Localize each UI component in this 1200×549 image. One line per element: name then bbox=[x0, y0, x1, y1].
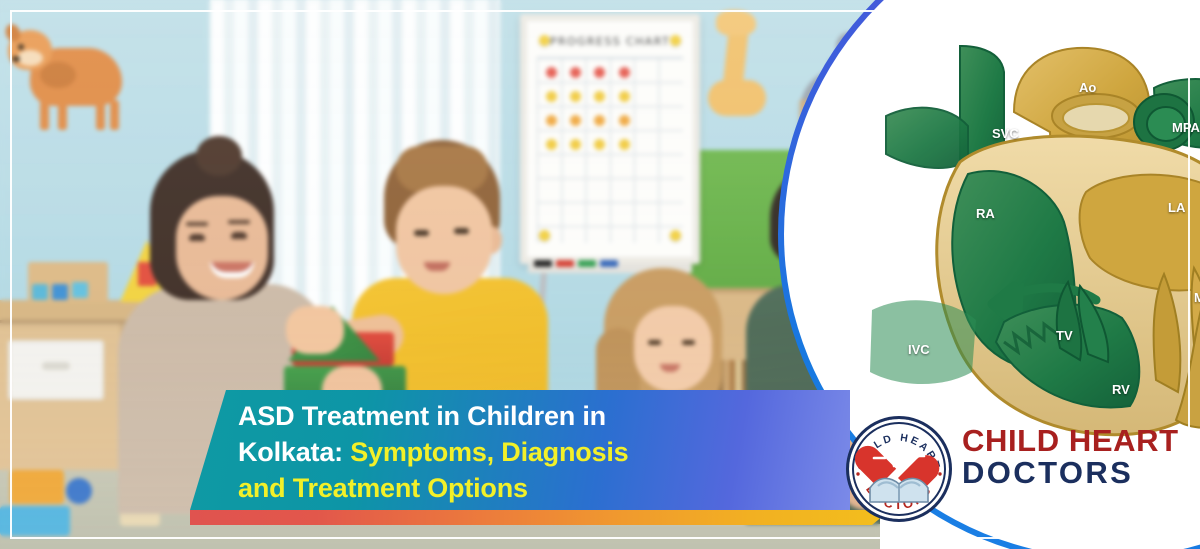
heart-label-ao: Ao bbox=[1079, 80, 1096, 95]
progress-sticker bbox=[570, 115, 581, 126]
title-line-1: ASD Treatment in Children in bbox=[238, 398, 840, 434]
progress-sticker bbox=[546, 139, 557, 150]
hands-icon bbox=[868, 470, 930, 504]
ecg-line-icon bbox=[872, 434, 926, 474]
progress-sticker bbox=[619, 67, 630, 78]
wordmark-line-2: DOCTORS bbox=[962, 456, 1179, 489]
title-line-2: Kolkata: Symptoms, Diagnosis bbox=[238, 434, 840, 470]
progress-sticker bbox=[594, 139, 605, 150]
progress-sticker bbox=[619, 115, 630, 126]
heart-diagram: AoSVCMPARALAMVTVIVCRVLV bbox=[864, 42, 1200, 442]
heart-label-svc: SVC bbox=[992, 126, 1019, 141]
heart-label-la: LA bbox=[1168, 200, 1185, 215]
marker bbox=[578, 260, 596, 267]
boy-hand bbox=[286, 306, 344, 354]
deer-nose-decal bbox=[12, 56, 20, 62]
brand-wordmark: CHILD HEART DOCTORS bbox=[962, 424, 1179, 489]
storage-bin bbox=[8, 340, 104, 400]
heart-label-rv: RV bbox=[1112, 382, 1130, 397]
promo-banner: PROGRESS CHART bbox=[0, 0, 1200, 549]
progress-sticker bbox=[619, 139, 630, 150]
brand-logo-badge[interactable]: CHILD HEART DOCTORS bbox=[846, 416, 952, 522]
progress-sticker bbox=[570, 139, 581, 150]
progress-sticker bbox=[546, 67, 557, 78]
floor-toy bbox=[10, 470, 64, 504]
title-line-2-plain: Kolkata: bbox=[238, 437, 350, 467]
magnet-pin bbox=[670, 230, 681, 241]
progress-sticker bbox=[546, 91, 557, 102]
progress-sticker bbox=[570, 91, 581, 102]
marker bbox=[600, 260, 618, 267]
deer-leg-decal bbox=[110, 100, 119, 130]
shelf-blocks-toy bbox=[28, 262, 108, 302]
progress-sticker bbox=[594, 115, 605, 126]
title-line-3: and Treatment Options bbox=[238, 470, 840, 506]
heart-label-ivc: IVC bbox=[908, 342, 930, 357]
title-banner: ASD Treatment in Children in Kolkata: Sy… bbox=[190, 390, 850, 510]
heart-label-tv: TV bbox=[1056, 328, 1073, 343]
progress-sticker bbox=[594, 91, 605, 102]
girl-face bbox=[634, 306, 712, 392]
heart-label-mpa: MPA bbox=[1172, 120, 1200, 135]
heart-label-ra: RA bbox=[976, 206, 995, 221]
heart-label-mv: MV bbox=[1194, 290, 1200, 305]
deer-leg-decal bbox=[96, 100, 105, 130]
wordmark-line-1: CHILD HEART bbox=[962, 424, 1179, 457]
banner-title: ASD Treatment in Children in Kolkata: Sy… bbox=[238, 398, 840, 506]
progress-chart-title: PROGRESS CHART bbox=[535, 31, 685, 48]
deer-leg-decal bbox=[40, 100, 49, 130]
woman-face bbox=[176, 196, 268, 300]
title-line-2-highlight: Symptoms, Diagnosis bbox=[350, 437, 628, 467]
boy-face bbox=[396, 186, 492, 294]
progress-sticker bbox=[619, 91, 630, 102]
accent-stripe bbox=[190, 510, 890, 525]
magnet-pin bbox=[539, 35, 550, 46]
marker bbox=[556, 260, 574, 267]
whiteboard: PROGRESS CHART bbox=[520, 14, 700, 264]
magnet-pin bbox=[670, 35, 681, 46]
marker bbox=[534, 260, 552, 267]
progress-sticker bbox=[546, 115, 557, 126]
deer-eye-decal bbox=[18, 44, 24, 50]
progress-sticker bbox=[570, 67, 581, 78]
progress-sticker bbox=[594, 67, 605, 78]
deer-leg-decal bbox=[58, 100, 67, 130]
heart-anatomy-illustration bbox=[864, 42, 1200, 442]
floor-toy bbox=[0, 506, 70, 536]
woman-hair-bun bbox=[196, 136, 242, 176]
floor-toy bbox=[66, 478, 92, 504]
magnet-pin bbox=[539, 230, 550, 241]
progress-chart-stickers bbox=[539, 61, 636, 157]
